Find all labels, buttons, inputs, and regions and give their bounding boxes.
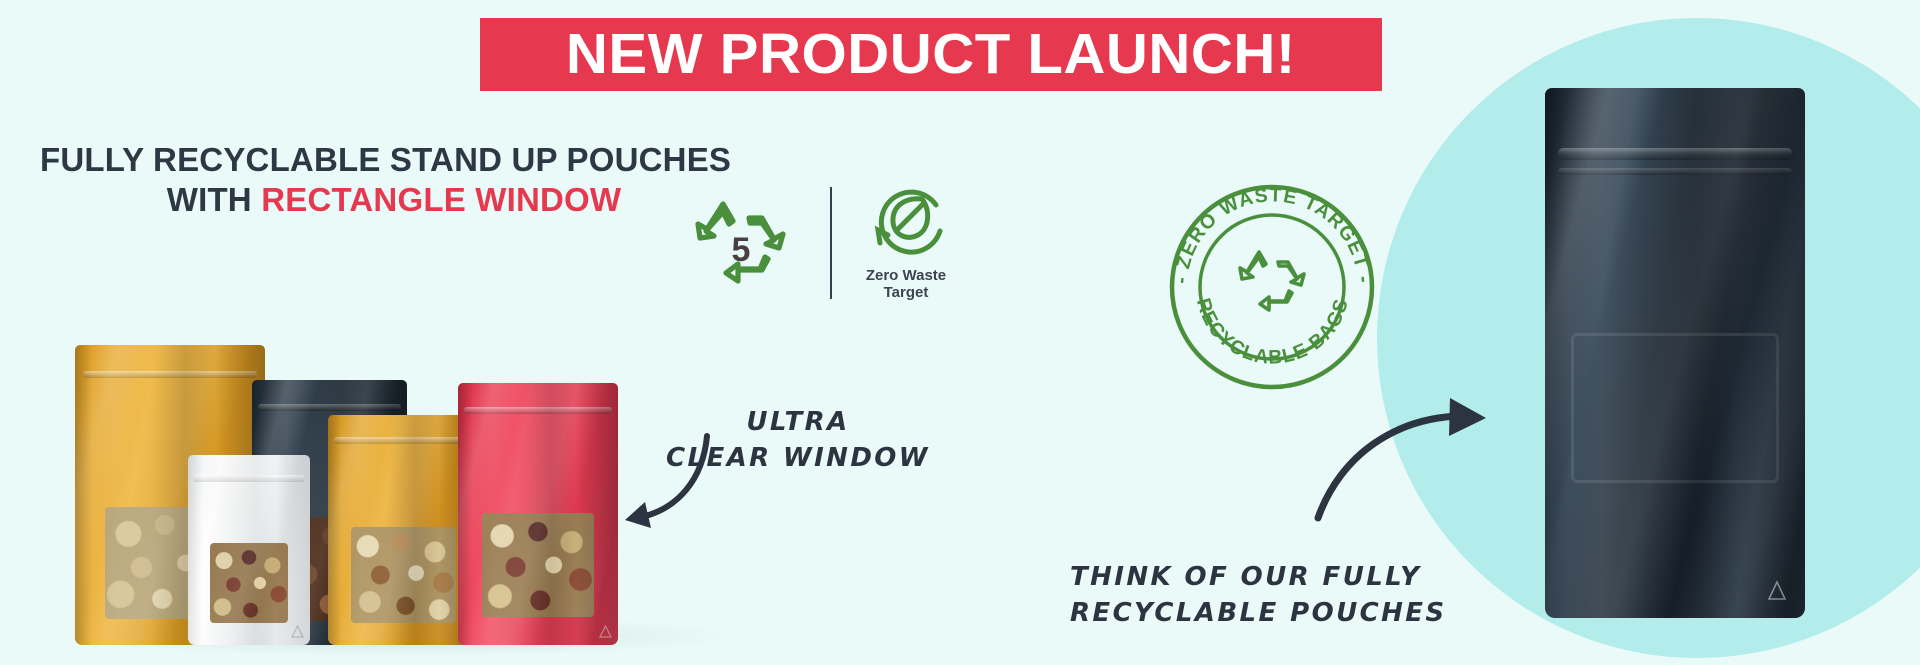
- pouch-zipper: [464, 407, 611, 414]
- zero-waste-target-label: Zero Waste Target: [854, 267, 958, 302]
- recycle-code-number: 5: [732, 231, 751, 269]
- pouch-window: [210, 543, 288, 623]
- pouch-zipper: [83, 371, 258, 378]
- recycle-mark-icon: [599, 625, 612, 639]
- pouch-window: [482, 513, 594, 617]
- zero-waste-label-line2: Target: [854, 284, 958, 301]
- think-annotation-line2: RECYCLABLE POUCHES: [1070, 596, 1447, 632]
- badge-bottom-text: RECYCLABLE BAGS: [1192, 296, 1353, 369]
- hero-pouch-zipper-seal: [1558, 168, 1792, 175]
- zero-waste-target-block: Zero Waste Target: [854, 185, 964, 302]
- launch-banner-text: NEW PRODUCT LAUNCH!: [566, 26, 1296, 83]
- recycle-mark-icon: [291, 625, 304, 639]
- hero-pouch-zipper: [1558, 148, 1792, 160]
- think-recyclable-annotation: THINK OF OUR FULLY RECYCLABLE POUCHES: [1070, 560, 1447, 632]
- white-pouch: [188, 455, 310, 645]
- pouch-zipper: [334, 437, 472, 444]
- pouch-zipper: [258, 404, 401, 411]
- think-annotation-line1: THINK OF OUR FULLY: [1070, 560, 1447, 596]
- recycle-mark-icon: [1767, 580, 1787, 602]
- pouch-window: [351, 527, 456, 623]
- recyclable-bags-badge: - ZERO WASTE TARGET - RECYCLABLE BAGS: [1165, 180, 1380, 395]
- pouch-zipper: [193, 475, 305, 482]
- banner-canvas: NEW PRODUCT LAUNCH! FULLY RECYCLABLE STA…: [0, 0, 1920, 665]
- gold-pouch-small: [328, 415, 478, 645]
- hero-pouch-rectangle-window: [1571, 333, 1779, 483]
- leaf-cycle-icon: [866, 185, 952, 265]
- red-pouch: [458, 383, 618, 645]
- headline-line-1: FULLY RECYCLABLE STAND UP POUCHES: [40, 140, 720, 180]
- eco-divider: [830, 187, 832, 299]
- headline-block: FULLY RECYCLABLE STAND UP POUCHES WITH R…: [40, 140, 720, 221]
- headline-line-2: WITH RECTANGLE WINDOW: [40, 180, 720, 220]
- headline-line-2-accent: RECTANGLE WINDOW: [261, 181, 621, 218]
- think-annotation-arrow-icon: [1310, 390, 1510, 530]
- headline-line-2-prefix: WITH: [167, 181, 261, 218]
- pouch-family-group: [40, 300, 740, 645]
- badge-recycle-icon: [1240, 252, 1304, 310]
- zero-waste-label-line1: Zero Waste: [854, 267, 958, 284]
- new-product-launch-banner: NEW PRODUCT LAUNCH!: [480, 18, 1382, 91]
- recycle-arrows-icon: 5: [676, 185, 806, 300]
- hero-stand-up-pouch: [1545, 88, 1805, 618]
